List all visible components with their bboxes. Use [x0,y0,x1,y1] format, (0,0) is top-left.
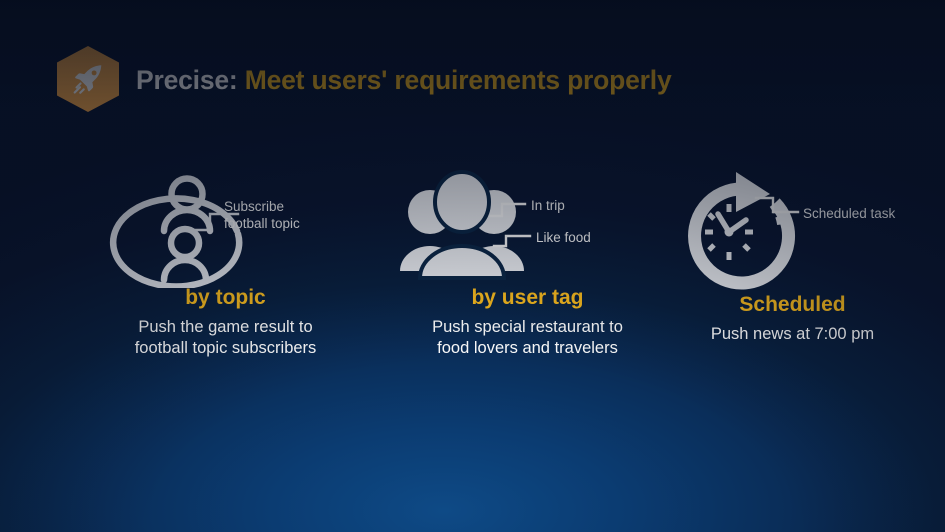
column-description-scheduled: Push news at 7:00 pm [640,324,945,345]
icon-row: Scheduled task [650,168,945,293]
user-group-icon [390,168,665,288]
column-description-by-topic: Push the game result to football topic s… [88,317,363,359]
icon-row: Subscribe football topic [88,168,363,286]
annotation-scheduled-task: Scheduled task [803,205,895,222]
column-by-user-tag: In trip Like food by user tag Push speci… [390,168,665,359]
column-heading-scheduled: Scheduled [640,293,945,317]
feature-columns: Subscribe football topic by topic Push t… [0,168,945,398]
title-label: Precise: [136,65,238,95]
annotation-line-1: In trip [531,198,565,213]
annotation-line-2: football topic [224,216,300,231]
slide-canvas: Precise: Meet users' requirements proper… [0,0,945,532]
annotation-in-trip: In trip [531,197,565,214]
description-line-1: Push special restaurant to [390,317,665,338]
column-heading-by-topic: by topic [88,286,363,310]
page-title: Precise: Meet users' requirements proper… [136,65,672,96]
column-by-topic: Subscribe football topic by topic Push t… [88,168,363,359]
description-line-1: Push the game result to [88,317,363,338]
annotation-line-1: Scheduled task [803,206,895,221]
description-line-1: Push news at 7:00 pm [640,324,945,345]
description-line-2: food lovers and travelers [390,338,665,359]
clock-arrow-icon [650,168,945,296]
title-highlight: Meet users' requirements properly [245,65,672,95]
annotation-like-food: Like food [536,229,591,246]
annotation-line-1: Like food [536,230,591,245]
annotation-subscribe: Subscribe football topic [224,198,300,232]
hexagon-shape [57,46,119,112]
rocket-icon [71,62,105,96]
icon-row: In trip Like food [390,168,665,286]
slide-header: Precise: Meet users' requirements proper… [57,46,672,112]
description-line-2: football topic subscribers [88,338,363,359]
column-description-by-user-tag: Push special restaurant to food lovers a… [390,317,665,359]
annotation-line-1: Subscribe [224,199,284,214]
column-heading-by-user-tag: by user tag [390,286,665,310]
rocket-badge [57,46,119,112]
column-scheduled: Scheduled task Scheduled Push news at 7:… [650,168,945,345]
